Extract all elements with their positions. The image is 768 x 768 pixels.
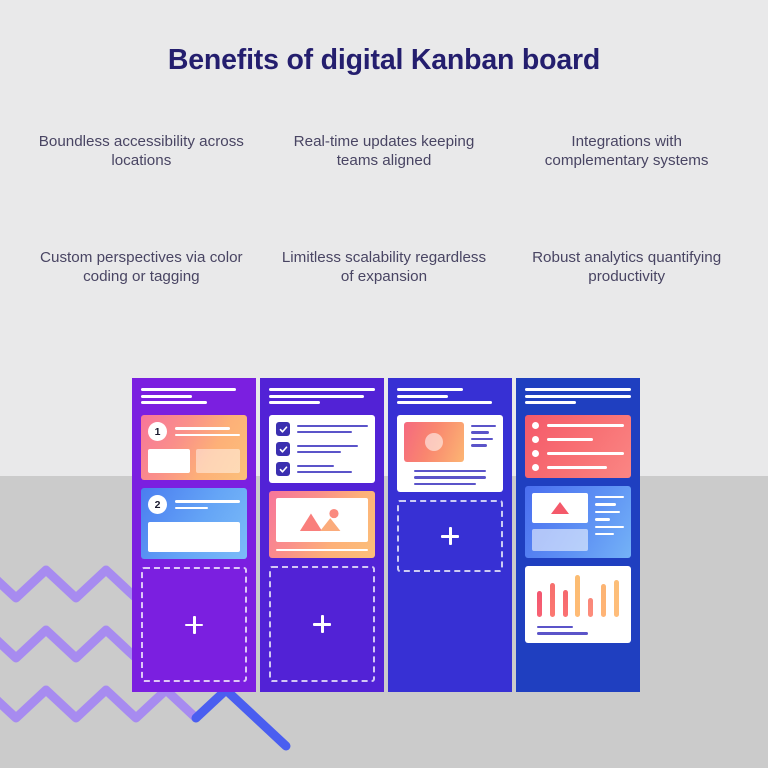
card-block-ghost	[196, 449, 240, 473]
text-line	[547, 466, 607, 468]
text-line	[595, 503, 616, 505]
kanban-card-media[interactable]	[397, 415, 503, 492]
chart-bar	[601, 584, 606, 617]
triangle-card-lines	[595, 493, 624, 551]
placeholder-block	[532, 529, 588, 551]
kanban-column-two[interactable]	[260, 378, 384, 692]
image-thumbnail	[276, 498, 368, 542]
column-three-spacer	[397, 580, 503, 682]
header-line	[397, 388, 463, 391]
chart-bar	[588, 598, 593, 617]
chart-bar	[614, 580, 619, 617]
header-line	[141, 388, 236, 391]
text-line	[595, 526, 624, 528]
card-blocks-row	[148, 522, 240, 552]
text-line	[471, 444, 487, 446]
header-line	[269, 401, 320, 404]
header-line	[525, 388, 631, 391]
benefit-item-boundless-accessibility: Boundless accessibility across locations	[20, 132, 263, 232]
text-line	[537, 626, 573, 628]
infographic-poster: Benefits of digital Kanban board Boundle…	[0, 0, 768, 768]
triangle-thumbnail	[532, 493, 588, 523]
card-badge-number: 2	[148, 495, 167, 514]
kanban-board: 1 2	[132, 378, 640, 692]
page-title: Benefits of digital Kanban board	[0, 44, 768, 77]
bullet-list-item	[532, 436, 624, 443]
column-four-header	[525, 388, 631, 404]
media-thumbnail	[404, 422, 464, 462]
header-line	[397, 401, 492, 404]
chart-bar	[563, 590, 568, 617]
text-line	[471, 438, 493, 440]
checklist-item[interactable]	[276, 462, 368, 476]
header-line	[141, 401, 207, 404]
header-line	[141, 395, 192, 398]
kanban-card-numbered-two[interactable]: 2	[141, 488, 247, 559]
column-two-header	[269, 388, 375, 404]
text-line	[297, 465, 334, 467]
text-line	[595, 518, 610, 520]
text-line	[297, 451, 341, 453]
text-line	[175, 500, 240, 502]
media-text-lines	[471, 422, 496, 462]
card-block-solid	[148, 449, 190, 473]
benefit-item-robust-analytics: Robust analytics quantifying productivit…	[505, 232, 748, 332]
text-line	[175, 434, 240, 436]
chart-bar	[575, 575, 580, 617]
benefit-item-custom-perspectives: Custom perspectives via color coding or …	[20, 232, 263, 332]
triangle-card-left	[532, 493, 588, 551]
checklist-text-lines	[297, 445, 368, 453]
kanban-column-one[interactable]: 1 2	[132, 378, 256, 692]
checkbox-checked-icon[interactable]	[276, 442, 290, 456]
checkbox-checked-icon[interactable]	[276, 422, 290, 436]
kanban-card-image[interactable]	[269, 491, 375, 558]
kanban-column-four[interactable]	[516, 378, 640, 692]
benefits-grid: Boundless accessibility across locations…	[20, 132, 748, 332]
card-blocks-row	[148, 449, 240, 473]
benefit-item-real-time-updates: Real-time updates keeping teams aligned	[263, 132, 506, 232]
kanban-card-bullet-list[interactable]	[525, 415, 631, 478]
text-line	[471, 431, 489, 433]
chart-bar	[537, 591, 542, 617]
text-line	[175, 427, 230, 429]
bullet-dot-icon	[532, 450, 539, 457]
checklist-item[interactable]	[276, 442, 368, 456]
bullet-list-item	[532, 464, 624, 471]
kanban-card-checklist[interactable]	[269, 415, 375, 483]
card-header: 1	[148, 422, 240, 441]
text-line	[297, 431, 352, 433]
text-line	[276, 549, 368, 551]
bar-chart	[533, 575, 623, 617]
text-line	[414, 476, 486, 478]
card-header: 2	[148, 495, 240, 514]
add-card-button-column-two[interactable]	[269, 566, 375, 682]
column-three-header	[397, 388, 503, 404]
triangle-card-body	[532, 493, 624, 551]
header-line	[397, 395, 448, 398]
add-card-button-column-three[interactable]	[397, 500, 503, 572]
column-one-header	[141, 388, 247, 404]
card-badge-number: 1	[148, 422, 167, 441]
media-body-lines	[404, 470, 496, 485]
card-title-lines	[175, 427, 240, 436]
text-line	[297, 425, 368, 427]
plus-icon	[441, 527, 459, 545]
media-card-top	[404, 422, 496, 462]
header-line	[525, 395, 631, 398]
checklist-text-lines	[297, 465, 368, 473]
card-block-solid	[148, 522, 240, 552]
text-line	[595, 496, 624, 498]
text-line	[297, 445, 358, 447]
bullet-list-item	[532, 450, 624, 457]
text-line	[175, 507, 208, 509]
triangle-icon	[549, 500, 571, 516]
checkbox-checked-icon[interactable]	[276, 462, 290, 476]
bullet-list-item	[532, 422, 624, 429]
text-line	[537, 632, 588, 634]
text-line	[547, 452, 624, 454]
mountain-image-icon	[276, 498, 368, 542]
header-line	[525, 401, 576, 404]
benefit-item-limitless-scalability: Limitless scalability regardless of expa…	[263, 232, 506, 332]
text-line	[414, 483, 476, 485]
add-card-button-column-one[interactable]	[141, 567, 247, 682]
text-line	[547, 424, 624, 426]
chart-caption-lines	[533, 626, 623, 635]
text-line	[595, 511, 620, 513]
text-line	[547, 438, 593, 440]
chart-bar	[550, 583, 555, 617]
bullet-dot-icon	[532, 436, 539, 443]
bullet-dot-icon	[532, 422, 539, 429]
checklist-item[interactable]	[276, 422, 368, 436]
benefit-item-integrations: Integrations with complementary systems	[505, 132, 748, 232]
kanban-card-numbered-one[interactable]: 1	[141, 415, 247, 480]
kanban-card-bar-chart[interactable]	[525, 566, 631, 643]
checklist-text-lines	[297, 425, 368, 433]
header-line	[269, 395, 364, 398]
card-title-lines	[175, 500, 240, 509]
kanban-card-triangle[interactable]	[525, 486, 631, 558]
bullet-dot-icon	[532, 464, 539, 471]
header-line	[269, 388, 375, 391]
text-line	[414, 470, 486, 472]
text-line	[297, 471, 352, 473]
kanban-column-three[interactable]	[388, 378, 512, 692]
text-line	[471, 425, 496, 427]
plus-icon	[185, 616, 203, 634]
circle-icon	[425, 433, 443, 451]
text-line	[595, 533, 614, 535]
plus-icon	[313, 615, 331, 633]
